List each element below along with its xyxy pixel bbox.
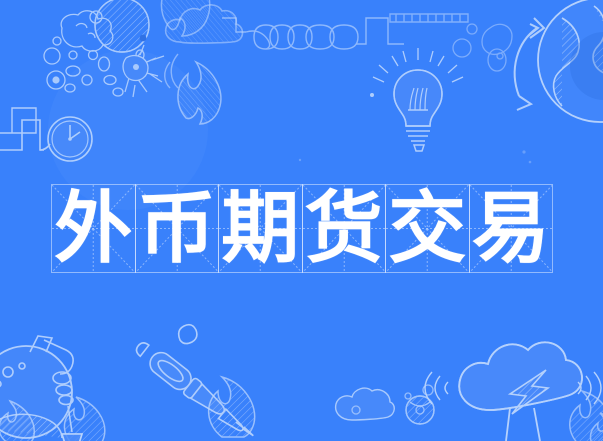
coil-spring-icon [222, 18, 404, 49]
small-cloud-icon [336, 388, 395, 420]
hatched-sphere-icon [406, 396, 434, 424]
flame-icon [178, 62, 221, 124]
flame-wisp-icon [165, 54, 178, 88]
flask-icon [0, 336, 82, 441]
lightbulb-icon [370, 48, 463, 151]
flame-row-right-icon [570, 391, 603, 441]
blob-cluster-icon [453, 24, 512, 71]
grid-cell-6: 易 [469, 184, 554, 273]
sparkle-dots-icon [299, 150, 532, 163]
refresh-arrow-icon [515, 18, 544, 110]
test-tube-icon [62, 434, 82, 441]
title-character: 期 [219, 185, 302, 272]
globe-icon [538, 0, 603, 122]
title-character: 交 [386, 185, 469, 272]
bubble-icons [352, 385, 433, 414]
clock-gauge-icon [0, 108, 92, 161]
flame-icon-right [161, 0, 209, 36]
title-full-text: 外币期货交易 [0, 0, 1, 1]
title-character: 货 [303, 185, 386, 272]
cell-cluster-icon [44, 0, 208, 210]
grid-cell-2: 币 [135, 184, 220, 273]
cloud-icon [166, 5, 243, 43]
title-character: 易 [470, 185, 553, 272]
flame-row-icon [0, 377, 255, 441]
fountain-pen-icon [131, 325, 260, 441]
grid-cell-4: 货 [302, 184, 387, 273]
grid-cell-3: 期 [218, 184, 303, 273]
grid-cell-1: 外 [51, 184, 136, 273]
title-character-grid: 外 币 期 [51, 184, 553, 273]
wire-icon [390, 14, 468, 22]
thundercloud-icon [425, 342, 601, 441]
poster-canvas: 外 币 期 [0, 0, 603, 441]
grid-cell-5: 交 [385, 184, 470, 273]
title-character: 外 [52, 185, 135, 272]
title-character: 币 [136, 185, 219, 272]
